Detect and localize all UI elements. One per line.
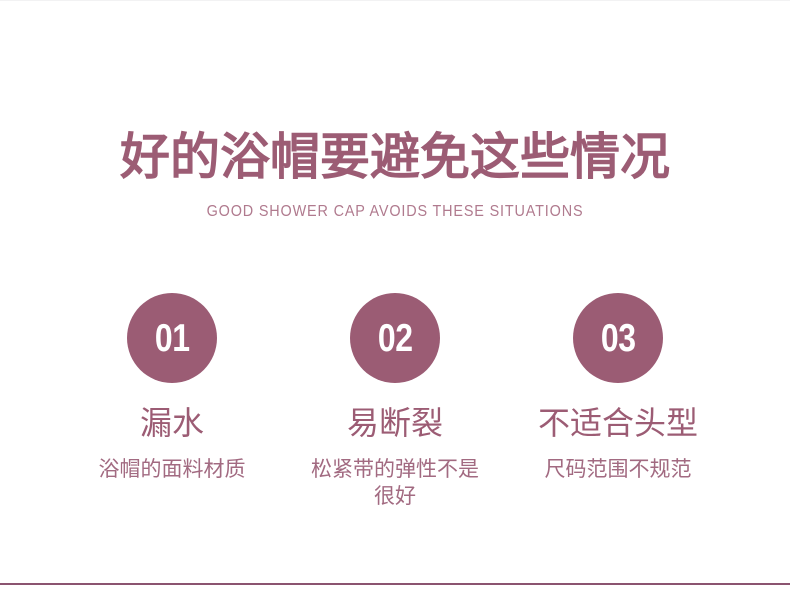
card-title-01: 漏水 bbox=[140, 404, 204, 442]
feature-card-02: 02 易断裂 松紧带的弹性不是很好 bbox=[284, 293, 507, 510]
card-title-02: 易断裂 bbox=[347, 404, 443, 442]
top-divider bbox=[0, 0, 790, 1]
feature-card-01: 01 漏水 浴帽的面料材质 bbox=[61, 293, 284, 483]
infographic-page: 好的浴帽要避免这些情况 GOOD SHOWER CAP AVOIDS THESE… bbox=[0, 0, 790, 589]
card-description-03: 尺码范围不规范 bbox=[545, 456, 692, 483]
footer-divider bbox=[0, 583, 790, 585]
feature-card-03: 03 不适合头型 尺码范围不规范 bbox=[507, 293, 730, 483]
card-title-03: 不适合头型 bbox=[538, 404, 698, 442]
page-subtitle: GOOD SHOWER CAP AVOIDS THESE SITUATIONS bbox=[28, 203, 763, 221]
feature-card-row: 01 漏水 浴帽的面料材质 02 易断裂 松紧带的弹性不是很好 03 不适合头型… bbox=[0, 293, 790, 510]
badge-number-label: 02 bbox=[378, 319, 413, 358]
number-badge-circle-03: 03 bbox=[573, 293, 663, 383]
number-badge-circle-02: 02 bbox=[350, 293, 440, 383]
card-description-02: 松紧带的弹性不是很好 bbox=[305, 456, 485, 510]
badge-number-label: 01 bbox=[155, 319, 190, 358]
card-description-01: 浴帽的面料材质 bbox=[99, 456, 246, 483]
badge-number-label: 03 bbox=[601, 319, 636, 358]
page-title: 好的浴帽要避免这些情况 bbox=[0, 126, 790, 188]
header-block: 好的浴帽要避免这些情况 GOOD SHOWER CAP AVOIDS THESE… bbox=[0, 126, 790, 221]
number-badge-circle-01: 01 bbox=[127, 293, 217, 383]
